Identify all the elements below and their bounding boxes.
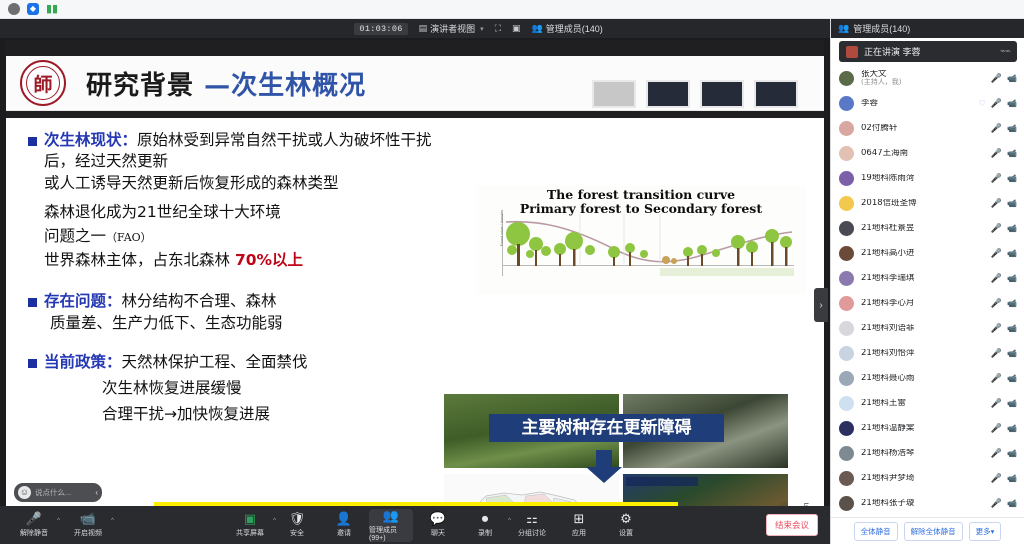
avatar [839, 371, 854, 386]
people-icon: 👥 [838, 23, 849, 34]
participant-row[interactable]: 2018信班圣博🎤📹 [831, 191, 1024, 216]
participant-row[interactable]: 21地科刘语菲🎤📹 [831, 316, 1024, 341]
view-mode-label: 演讲者视图 [430, 22, 475, 35]
participant-name: 21地科李心月 [861, 299, 984, 308]
toolbar-share-screen-button[interactable]: ▣ 共享屏幕 ^ [228, 512, 272, 538]
chevron-up-icon[interactable]: ^ [111, 518, 114, 524]
toolbar-breakout-rooms-button[interactable]: ⚏ 分组讨论 [510, 512, 554, 538]
participant-name: 张大文(主持人，我) [861, 70, 984, 87]
toolbar-unmute-button[interactable]: 🎤 解除静音 ^ [12, 512, 56, 538]
camera-off-icon[interactable]: 📹 [1007, 449, 1017, 458]
camera-off-icon[interactable]: 📹 [1007, 474, 1017, 483]
toolbar-settings-button[interactable]: ⚙ 设置 [604, 512, 648, 538]
participant-name: 19地科陈雨菏 [861, 174, 984, 183]
camera-off-icon[interactable]: 📹 [1007, 124, 1017, 133]
camera-muted-icon: 📹 [80, 512, 96, 526]
os-top-strip: ◆ ▮▮ [0, 0, 1024, 19]
microphone-muted-icon[interactable]: 🎤 [991, 273, 1002, 284]
participant-name: 21地科尹梦琦 [861, 474, 984, 483]
participant-status-icons: 🎤📹 [991, 348, 1017, 359]
participant-name: 21地科温静棠 [861, 424, 984, 433]
participant-name: 21地科刘怡萍 [861, 349, 984, 358]
participant-row[interactable]: 李蓉♡🎤📹 [831, 91, 1024, 116]
layout-button[interactable]: ▣ [512, 23, 521, 34]
avatar [839, 471, 854, 486]
logo-glyph: 師 [22, 62, 64, 104]
para-line-4-text: 世界森林主体，占东北森林 [44, 251, 235, 269]
participant-name: 21地科张子璇 [861, 499, 984, 508]
more-options-label: 更多 [976, 527, 991, 536]
bullet-square-icon [28, 359, 37, 368]
camera-off-icon[interactable]: 📹 [1007, 424, 1017, 433]
active-speaker-toast: 正在讲演 李蓉 ⌁⌁ [839, 41, 1017, 62]
participant-status-icons: 🎤📹 [991, 298, 1017, 309]
figure-y-label: Forest cover / biomass [500, 208, 504, 248]
participant-name: 0647王海南 [861, 149, 984, 158]
bullet-2-text: 林分结构不合理、森林 [122, 292, 277, 310]
mini-chat-widget[interactable]: ☺ 说点什么... ‹ [14, 483, 102, 502]
participant-name: 李蓉 [861, 99, 972, 108]
shared-screen-stage: 師 研究背景 —次生林概况 [0, 38, 830, 525]
bullet-2: 存在问题：林分结构不合理、森林 [28, 291, 458, 312]
breakout-rooms-icon: ⚏ [526, 512, 538, 526]
toolbar-share-screen-label: 共享屏幕 [236, 528, 264, 538]
microphone-muted-icon[interactable]: 🎤 [991, 148, 1002, 159]
toolbar-breakout-rooms-label: 分组讨论 [518, 528, 546, 538]
bullet-3: 当前政策：天然林保护工程、全面禁伐 [28, 352, 458, 373]
camera-off-icon[interactable]: 📹 [1007, 74, 1017, 83]
slide-title-main: 研究背景 [86, 71, 194, 101]
participant-row[interactable]: 张大文(主持人，我)🎤📹 [831, 66, 1024, 91]
toolbar-participants-button[interactable]: 👥 管理成员(99+) [369, 509, 413, 542]
microphone-muted-icon[interactable]: 🎤 [991, 448, 1002, 459]
participant-name: 21地科李瑞琪 [861, 274, 984, 283]
camera-off-icon[interactable]: 📹 [1007, 149, 1017, 158]
people-icon: 👥 [383, 509, 399, 523]
chat-bubble-icon: 💬 [430, 512, 446, 526]
shield-icon: 🛡 [289, 512, 306, 526]
toolbar-start-video-button[interactable]: 📹 开启视频 ^ [66, 512, 110, 538]
avatar [839, 171, 854, 186]
apps-grid-icon: ⊞ [574, 512, 585, 526]
end-meeting-button[interactable]: 结束会议 [766, 514, 818, 536]
participant-status-icons: 🎤📹 [991, 248, 1017, 259]
participant-name: 21地科高小进 [861, 249, 984, 258]
fullscreen-icon: ⛶ [495, 23, 501, 34]
participant-name: 21地科杨浩琴 [861, 449, 984, 458]
participant-status-icons: 🎤📹 [991, 173, 1017, 184]
thumbnail-4 [754, 80, 798, 108]
record-circle-icon: ⏺ [482, 512, 489, 526]
host-badge-icon: ♡ [979, 99, 986, 108]
avatar [839, 296, 854, 311]
toolbar-center-group: ▣ 共享屏幕 ^ 🛡 安全 👤 邀请 👥 管理成员(99+) 💬 [228, 509, 648, 542]
slide-thumbnail-strip [592, 80, 798, 108]
para-line-7: 合理干扰→加快恢复进展 [102, 403, 458, 425]
toolbar-settings-label: 设置 [619, 528, 633, 538]
microphone-muted-icon[interactable]: 🎤 [991, 223, 1002, 234]
bullet-3-head: 当前政策： [44, 353, 122, 371]
para-line-4-highlight: 70%以上 [235, 251, 303, 269]
avatar [839, 121, 854, 136]
participants-panel: 👥 管理成员(140) ⌕ 搜索成员 正在讲演 李蓉 ⌁⌁ 张大文(主持人，我)… [830, 19, 1024, 544]
participants-header-label: 管理成员(140) [546, 22, 603, 35]
participant-row[interactable]: 21地科温静棠🎤📹 [831, 416, 1024, 441]
toolbar-chat-button[interactable]: 💬 聊天 [416, 512, 460, 538]
camera-off-icon[interactable]: 📹 [1007, 249, 1017, 258]
participant-status-icons: 🎤📹 [991, 373, 1017, 384]
avatar [839, 96, 854, 111]
participant-status-icons: 🎤📹 [991, 398, 1017, 409]
invite-person-icon: 👤 [336, 512, 352, 526]
emoji-icon[interactable]: ☺ [18, 486, 31, 499]
mute-all-button[interactable]: 全体静音 [854, 522, 898, 541]
panel-collapse-handle[interactable]: › [814, 288, 828, 322]
microphone-muted-icon[interactable]: 🎤 [991, 298, 1002, 309]
figure-title-line1: The forest transition curve [476, 188, 806, 202]
toolbar-invite-label: 邀请 [337, 528, 351, 538]
microphone-muted-icon[interactable]: 🎤 [991, 473, 1002, 484]
slide-title-rule [6, 111, 824, 118]
thumbnail-1 [592, 80, 636, 108]
camera-off-icon[interactable]: 📹 [1007, 224, 1017, 233]
slide-title-dash: — [204, 71, 231, 101]
active-speaker-label: 正在讲演 李蓉 [864, 45, 921, 58]
layout-icon: ▣ [512, 23, 521, 34]
participant-row[interactable]: 21地科聂心雨🎤📹 [831, 366, 1024, 391]
participant-status-icons: ♡🎤📹 [979, 98, 1017, 109]
para-line-6: 次生林恢复进展缓慢 [102, 377, 458, 399]
toolbar-left-group: 🎤 解除静音 ^ 📹 开启视频 ^ [12, 512, 110, 538]
microphone-active-icon[interactable]: 🎤 [991, 98, 1002, 109]
participant-row[interactable]: 21地科高小进🎤📹 [831, 241, 1024, 266]
camera-off-icon[interactable]: 📹 [1007, 349, 1017, 358]
para-line-5: 质量差、生产力低下、生态功能弱 [50, 312, 458, 334]
participant-name: 21地科聂心雨 [861, 374, 984, 383]
shield-icon[interactable]: ◆ [27, 3, 39, 15]
microphone-muted-icon[interactable]: 🎤 [991, 198, 1002, 209]
para-line-3-fao: （FAO） [106, 231, 152, 244]
figure-title: The forest transition curve Primary fore… [476, 188, 806, 217]
microphone-muted-icon[interactable]: 🎤 [991, 123, 1002, 134]
mini-chat-input[interactable]: 说点什么... [35, 487, 91, 498]
news-overlay-top [626, 477, 698, 486]
microphone-muted-icon[interactable]: 🎤 [991, 323, 1002, 334]
avatar [839, 396, 854, 411]
avatar [839, 146, 854, 161]
avatar [839, 246, 854, 261]
unmute-all-button[interactable]: 解除全体静音 [904, 522, 963, 541]
avatar [839, 71, 854, 86]
thumbnail-3 [700, 80, 744, 108]
toolbar-security-button[interactable]: 🛡 安全 [275, 512, 319, 538]
university-logo-icon: 師 [20, 60, 66, 106]
arrow-down-head-icon [586, 467, 622, 483]
microphone-muted-icon[interactable]: 🎤 [991, 73, 1002, 84]
participant-status-icons: 🎤📹 [991, 148, 1017, 159]
camera-off-icon[interactable]: 📹 [1007, 374, 1017, 383]
participant-list[interactable]: 张大文(主持人，我)🎤📹李蓉♡🎤📹02付腾轩🎤📹0647王海南🎤📹19地科陈雨菏… [831, 66, 1024, 517]
participant-name: 2018信班圣博 [861, 199, 984, 208]
camera-off-icon[interactable]: 📹 [1007, 174, 1017, 183]
chevron-down-icon: ▾ [480, 25, 484, 33]
participant-name: 21地科刘语菲 [861, 324, 984, 333]
participant-status-icons: 🎤📹 [991, 123, 1017, 134]
avatar [839, 271, 854, 286]
fullscreen-button[interactable]: ⛶ [495, 23, 501, 34]
share-screen-icon: ▣ [244, 512, 256, 526]
participant-row[interactable]: 21地科李心月🎤📹 [831, 291, 1024, 316]
slide-title-accent: 次生林概况 [231, 71, 366, 101]
toolbar-record-button[interactable]: ⏺ 录制 ^ [463, 512, 507, 538]
toolbar-start-video-label: 开启视频 [74, 528, 102, 538]
para-line-4: 世界森林主体，占东北森林 70%以上 [44, 249, 458, 271]
page-title: 研究背景 —次生林概况 [86, 65, 366, 102]
toolbar-apps-button[interactable]: ⊞ 应用 [557, 512, 601, 538]
participant-status-icons: 🎤📹 [991, 473, 1017, 484]
camera-off-icon[interactable]: 📹 [1007, 499, 1017, 508]
participant-role: (主持人，我) [861, 79, 984, 87]
toolbar-chat-label: 聊天 [431, 528, 445, 538]
meeting-window: 01:03:06 ▤ 演讲者视图 ▾ ⛶ ▣ 👥 管理成员(140) ··· ✕… [0, 19, 1024, 544]
slide-title-band: 師 研究背景 —次生林概况 [6, 56, 824, 111]
slide-body: 次生林现状：原始林受到异常自然干扰或人为破坏性干扰后，经过天然更新 或人工诱导天… [6, 118, 824, 520]
people-icon: 👥 [532, 23, 543, 34]
para-line-1: 或人工诱导天然更新后恢复形成的森林类型 [44, 172, 458, 194]
microphone-muted-icon: 🎤 [26, 512, 42, 526]
screen-root: ◆ ▮▮ 01:03:06 ▤ 演讲者视图 ▾ ⛶ ▣ 👥 管理成员(140) [0, 0, 1024, 544]
chevron-down-icon: ▾ [991, 527, 995, 536]
microphone-muted-icon[interactable]: 🎤 [991, 423, 1002, 434]
participant-status-icons: 🎤📹 [991, 448, 1017, 459]
participant-row[interactable]: 21地科张子璇🎤📹 [831, 491, 1024, 516]
participant-row[interactable]: 21地科杨浩琴🎤📹 [831, 441, 1024, 466]
forest-transition-figure: The forest transition curve Primary fore… [476, 186, 806, 294]
participant-status-icons: 🎤📹 [991, 273, 1017, 284]
speaker-avatar [846, 46, 858, 58]
participants-panel-title: 管理成员(140) [853, 22, 910, 35]
speaker-view-icon: ▤ [419, 23, 428, 34]
meeting-timer: 01:03:06 [354, 23, 407, 35]
camera-off-icon[interactable]: 📹 [1007, 324, 1017, 333]
participant-row[interactable]: 02付腾轩🎤📹 [831, 116, 1024, 141]
participants-panel-footer: 全体静音 解除全体静音 更多▾ [831, 517, 1024, 544]
avatar [839, 221, 854, 236]
avatar [839, 321, 854, 336]
chevron-left-icon[interactable]: ‹ [95, 488, 98, 497]
participant-row[interactable]: 21地科刘怡萍🎤📹 [831, 341, 1024, 366]
participant-row[interactable]: 21地科李瑞琪🎤📹 [831, 266, 1024, 291]
microphone-muted-icon[interactable]: 🎤 [991, 398, 1002, 409]
participant-row[interactable]: 21地科杜景昱🎤📹 [831, 216, 1024, 241]
toolbar-right-group: 结束会议 [766, 514, 818, 536]
toolbar-security-label: 安全 [290, 528, 304, 538]
participant-row[interactable]: 0647王海南🎤📹 [831, 141, 1024, 166]
avatar [839, 346, 854, 361]
participant-name: 21地科杜景昱 [861, 224, 984, 233]
camera-off-icon[interactable]: 📹 [1007, 274, 1017, 283]
toolbar-participants-label: 管理成员(99+) [369, 525, 413, 542]
participants-panel-header: 👥 管理成员(140) [831, 19, 1024, 38]
bullet-2-head: 存在问题： [44, 292, 122, 310]
participant-row[interactable]: 19地科陈雨菏🎤📹 [831, 166, 1024, 191]
record-dot-icon[interactable] [8, 3, 20, 15]
toolbar-unmute-label: 解除静音 [20, 528, 48, 538]
caption-main: 主要树种存在更新障碍 [489, 414, 724, 442]
participant-name: 21地科王雷 [861, 399, 984, 408]
microphone-muted-icon[interactable]: 🎤 [991, 248, 1002, 259]
camera-off-icon[interactable]: 📹 [1007, 99, 1017, 108]
bullet-1: 次生林现状：原始林受到异常自然干扰或人为破坏性干扰后，经过天然更新 [28, 130, 458, 172]
participant-name: 02付腾轩 [861, 124, 984, 133]
more-options-button[interactable]: 更多▾ [969, 522, 1002, 541]
bullet-3-text: 天然林保护工程、全面禁伐 [122, 353, 308, 371]
avatar [839, 421, 854, 436]
participants-header-button[interactable]: 👥 管理成员(140) [532, 22, 603, 35]
presentation-slide: 師 研究背景 —次生林概况 [6, 40, 824, 520]
participant-status-icons: 🎤📹 [991, 223, 1017, 234]
slide-text-column: 次生林现状：原始林受到异常自然干扰或人为破坏性干扰后，经过天然更新 或人工诱导天… [28, 128, 458, 425]
meeting-toolbar: 🎤 解除静音 ^ 📹 开启视频 ^ ▣ 共享屏幕 ^ 🛡 [0, 506, 830, 544]
bullet-square-icon [28, 137, 37, 146]
participant-status-icons: 🎤📹 [991, 73, 1017, 84]
microphone-muted-icon[interactable]: 🎤 [991, 373, 1002, 384]
microphone-muted-icon[interactable]: 🎤 [991, 348, 1002, 359]
view-mode-switcher[interactable]: ▤ 演讲者视图 ▾ [419, 22, 484, 35]
camera-off-icon[interactable]: 📹 [1007, 299, 1017, 308]
microphone-muted-icon[interactable]: 🎤 [991, 498, 1002, 509]
para-line-3-text: 问题之一 [44, 227, 106, 245]
participant-row[interactable]: 21地科尹梦琦🎤📹 [831, 466, 1024, 491]
participant-status-icons: 🎤📹 [991, 423, 1017, 434]
signal-bars-icon[interactable]: ▮▮ [46, 3, 58, 15]
bullet-1-head: 次生林现状： [44, 131, 137, 149]
thumbnail-2 [646, 80, 690, 108]
para-line-2: 森林退化成为21世纪全球十大环境 [44, 201, 458, 223]
gear-icon: ⚙ [620, 512, 632, 526]
audio-wave-icon: ⌁⌁ [1000, 46, 1010, 57]
para-line-3: 问题之一（FAO） [44, 225, 458, 247]
participant-row[interactable]: 21地科王雷🎤📹 [831, 391, 1024, 416]
toolbar-invite-button[interactable]: 👤 邀请 [322, 512, 366, 538]
figure-plot: Forest cover / biomass [502, 214, 794, 276]
toolbar-apps-label: 应用 [572, 528, 586, 538]
camera-off-icon[interactable]: 📹 [1007, 399, 1017, 408]
microphone-muted-icon[interactable]: 🎤 [991, 173, 1002, 184]
slide-top-band [6, 40, 824, 56]
avatar [839, 496, 854, 511]
chevron-up-icon[interactable]: ^ [57, 518, 60, 524]
bullet-square-icon [28, 298, 37, 307]
participant-status-icons: 🎤📹 [991, 198, 1017, 209]
figure-transition-curve [502, 214, 794, 276]
participant-status-icons: 🎤📹 [991, 498, 1017, 509]
toolbar-record-label: 录制 [478, 528, 492, 538]
participant-status-icons: 🎤📹 [991, 323, 1017, 334]
avatar [839, 196, 854, 211]
camera-off-icon[interactable]: 📹 [1007, 199, 1017, 208]
avatar [839, 446, 854, 461]
